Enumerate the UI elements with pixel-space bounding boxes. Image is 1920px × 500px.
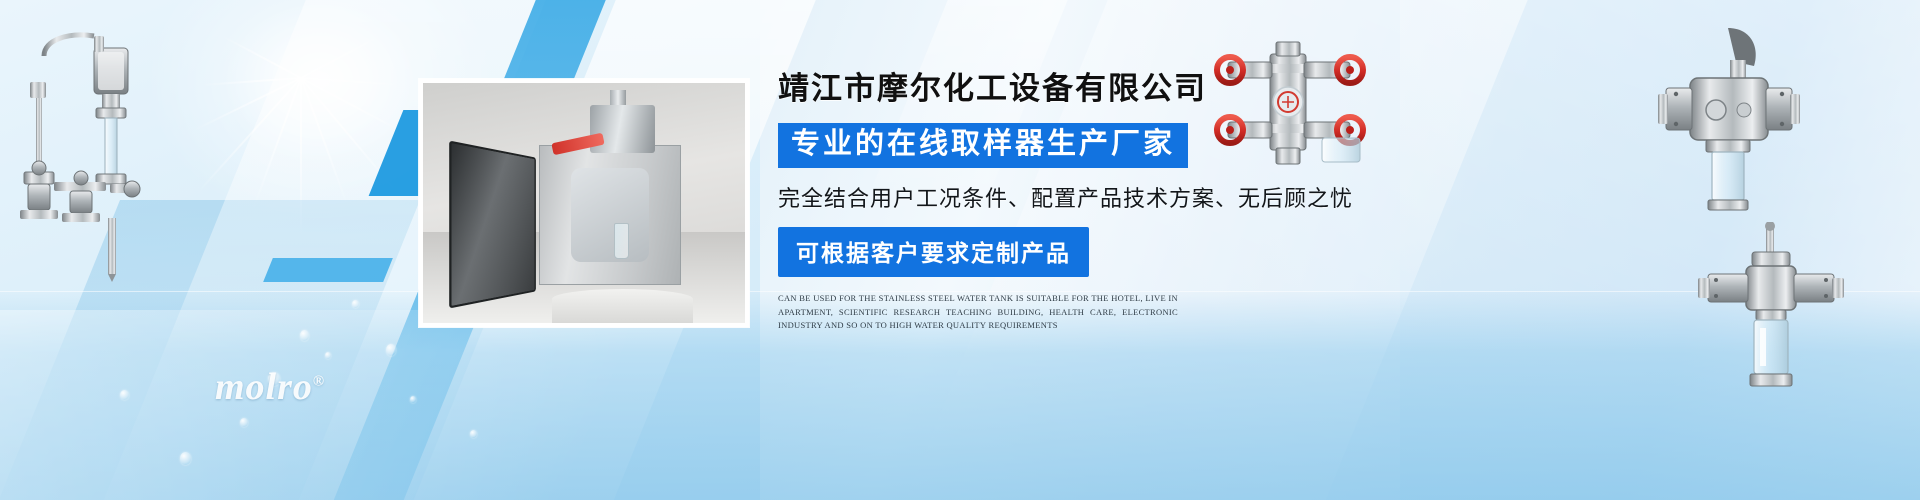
water-droplet [386, 344, 396, 356]
water-droplet [410, 396, 416, 403]
banner-text-block: 靖江市摩尔化工设备有限公司 专业的在线取样器生产厂家 完全结合用户工况条件、配置… [778, 72, 1398, 332]
watermark-text: molro [215, 366, 313, 408]
photo-valve-head [590, 105, 654, 153]
product-photo-image [423, 83, 745, 323]
sun-ray [300, 77, 398, 193]
water-droplet [470, 430, 477, 438]
sun-ray [301, 35, 381, 79]
sun-ray [197, 77, 302, 194]
sun-ray [301, 77, 408, 135]
photo-pedestal [552, 289, 694, 323]
sun-ray [221, 35, 301, 79]
water-droplet [300, 330, 309, 341]
sun-ray [300, 78, 302, 243]
flanged-sampler-right-icon [1644, 22, 1804, 222]
water-droplet [325, 352, 331, 359]
sun-ray [193, 77, 302, 131]
photo-cabinet-window [571, 168, 649, 261]
headline-text: 专业的在线取样器生产厂家 [791, 128, 1175, 161]
water-droplet [240, 418, 248, 427]
custom-product-label: 可根据客户要求定制产品 [796, 234, 1071, 268]
company-title: 靖江市摩尔化工设备有限公司 [778, 72, 1398, 106]
water-droplet [180, 452, 191, 465]
water-droplet [352, 300, 359, 308]
sampler-assembly-left [10, 22, 180, 287]
sun-ray [201, 77, 301, 86]
inline-sampler-bottom [1690, 222, 1860, 397]
inline-sampler-bottom-icon [1690, 222, 1860, 392]
product-photo [419, 79, 749, 327]
photo-cabinet-door [449, 141, 535, 309]
flanged-sampler-right [1644, 22, 1804, 227]
promo-banner: 靖江市摩尔化工设备有限公司 专业的在线取样器生产厂家 完全结合用户工况条件、配置… [0, 0, 1920, 500]
subline-text: 完全结合用户工况条件、配置产品技术方案、无后顾之忧 [778, 181, 1398, 213]
sun-ray [301, 77, 401, 86]
headline-highlight: 专业的在线取样器生产厂家 [778, 123, 1188, 168]
water-sheen [0, 310, 1100, 500]
registered-mark-icon: ® [313, 373, 325, 389]
sun-ray [252, 78, 302, 210]
english-description: CAN BE USED FOR THE STAINLESS STEEL WATE… [778, 292, 1178, 332]
sampler-assembly-left-icon [10, 22, 180, 282]
watermark-logo: molro® [215, 365, 325, 409]
photo-sample-bottle [614, 223, 629, 259]
sun-ray [300, 78, 348, 206]
photo-cabinet [539, 145, 681, 284]
accent-chevron [263, 258, 393, 282]
custom-product-badge: 可根据客户要求定制产品 [778, 227, 1089, 277]
water-droplet [120, 390, 129, 400]
